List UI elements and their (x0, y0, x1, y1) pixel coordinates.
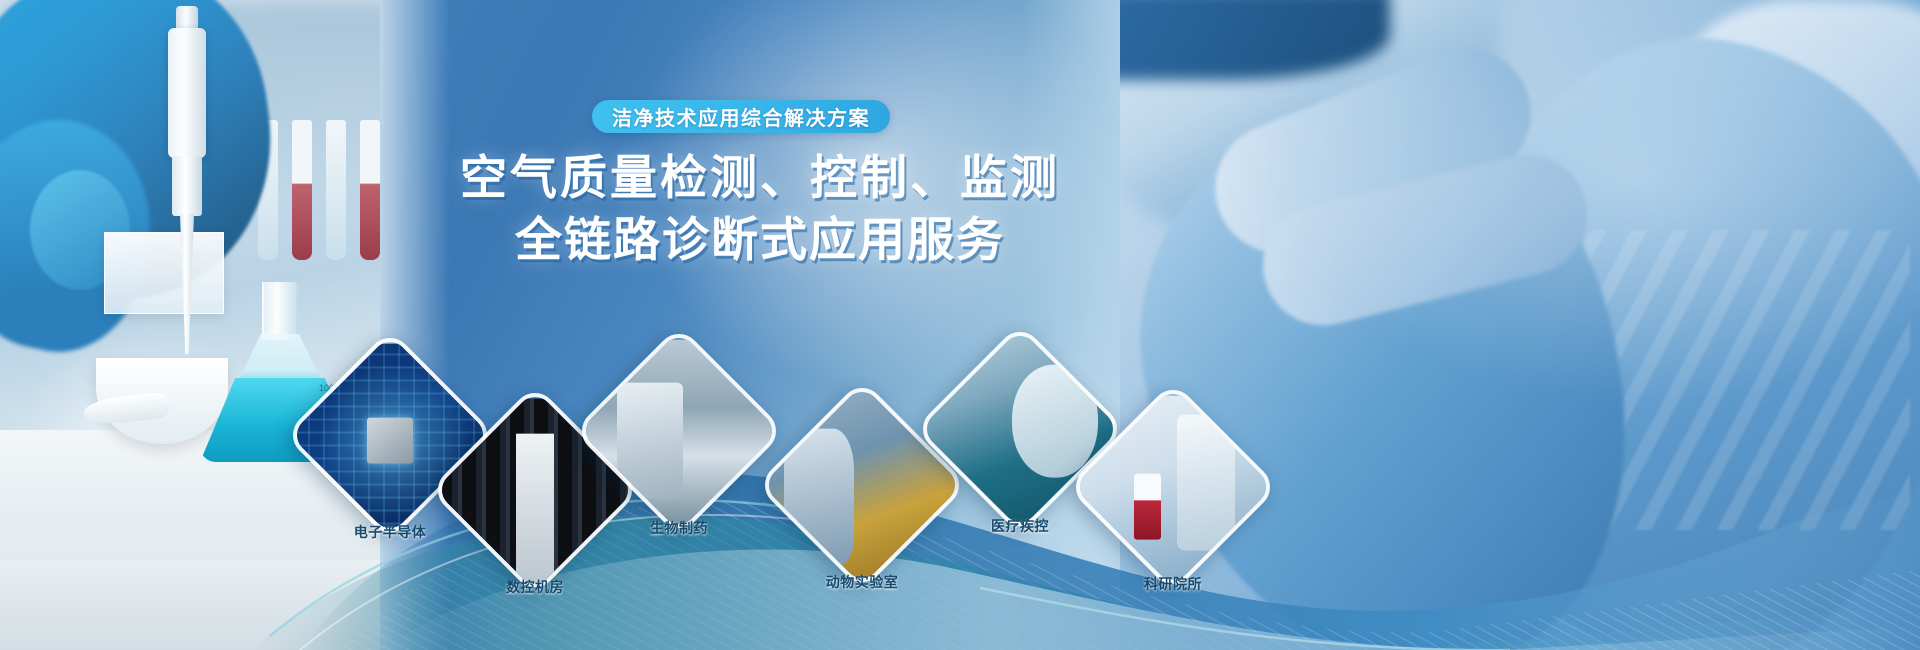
headline-block: 空气质量检测、控制、监测 全链路诊断式应用服务 (380, 148, 1140, 272)
headline-line-2: 全链路诊断式应用服务 (380, 210, 1140, 272)
industry-card-label-5: 科研院所 (1073, 574, 1273, 594)
biopharma-icon (573, 325, 785, 537)
industry-card-row: 电子半导体 数控机房 生物制药 动物实验室 医疗疾控 科研院所 (0, 350, 1920, 650)
industry-card-3[interactable]: 动物实验室 (787, 410, 937, 560)
pipette-shaft-icon (172, 156, 202, 216)
badge-label: 洁净技术应用综合解决方案 (612, 102, 870, 131)
industry-card-label-3: 动物实验室 (762, 572, 962, 592)
headline-line-1: 空气质量检测、控制、监测 (380, 148, 1140, 210)
research-institute-icon (1067, 381, 1279, 593)
industry-card-4[interactable]: 医疗疾控 (945, 354, 1095, 504)
industry-card-label-2: 生物制药 (579, 518, 779, 538)
industry-card-label-4: 医疗疾控 (920, 516, 1120, 536)
industry-card-label-1: 数控机房 (435, 577, 635, 597)
pipette-body-icon (168, 28, 206, 158)
industry-card-5[interactable]: 科研院所 (1098, 412, 1248, 562)
badge-pill: 洁净技术应用综合解决方案 (592, 100, 890, 133)
hero-banner: 100 80 60 40 (0, 0, 1920, 650)
industry-card-2[interactable]: 生物制药 (604, 356, 754, 506)
